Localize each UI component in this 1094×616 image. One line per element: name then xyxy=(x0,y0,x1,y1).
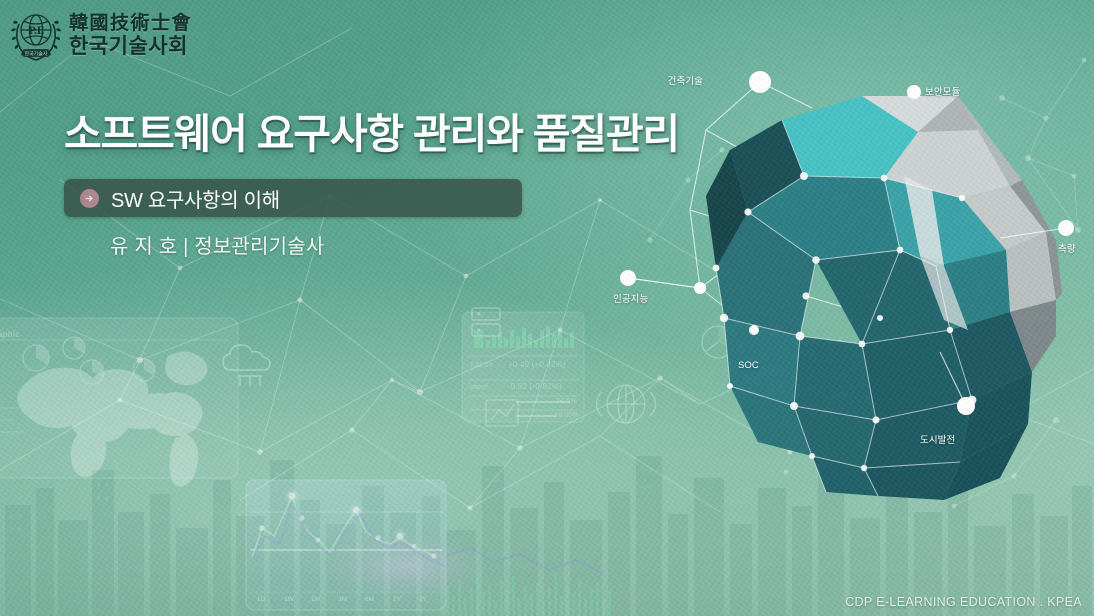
presenter-name: 유 지 호 | 정보관리기술사 xyxy=(110,230,679,259)
subtitle-text: SW 요구사항의 이해 xyxy=(111,184,280,213)
stock-row-b-value: 18.00% xyxy=(554,412,579,419)
range-3m[interactable]: 3M xyxy=(338,596,347,603)
range-1m[interactable]: 1M xyxy=(311,596,320,603)
svg-text:P.E: P.E xyxy=(28,26,44,37)
world-map-panel-caption: aphic xyxy=(0,330,20,339)
network-endpoint-dots xyxy=(620,71,1074,415)
stock-change-down: -0.62 (-0.52%) xyxy=(508,382,562,391)
graph-line-icon xyxy=(486,400,518,426)
cityscape-layer xyxy=(0,420,1094,616)
node-label-artificial-intelligence: 인공지능 xyxy=(613,291,648,305)
range-1w[interactable]: 1W xyxy=(284,596,294,603)
line-chart-panel xyxy=(246,480,446,610)
globe-wifi-icon xyxy=(597,385,656,423)
title-block: 소프트웨어 요구사항 관리와 품질관리 SW 요구사항의 이해 유 지 호 | … xyxy=(64,100,679,259)
node-label-soc: SOC xyxy=(738,360,759,371)
world-map-panel xyxy=(0,318,238,487)
polyhedron-sphere xyxy=(706,96,1062,500)
node-label-surveying: 측량 xyxy=(1058,241,1076,255)
arrow-right-circle-icon xyxy=(80,189,99,208)
secondary-trend-line xyxy=(446,548,604,574)
pie-chart-icon xyxy=(702,326,734,358)
range-2y[interactable]: 2Y xyxy=(419,596,427,603)
range-1y[interactable]: 1Y xyxy=(393,596,401,603)
pe-globe-emblem-icon: P.E 한국기술사 xyxy=(10,8,62,62)
server-stack-icon xyxy=(472,308,500,336)
stock-secondary-value: panel xyxy=(470,384,488,391)
range-1d[interactable]: 1D xyxy=(257,596,265,603)
node-network xyxy=(620,58,1086,509)
subtitle-pill[interactable]: SW 요구사항의 이해 xyxy=(64,179,522,217)
svg-text:한국기술사: 한국기술사 xyxy=(24,51,47,58)
stock-change-up: +0.49 (+0.42%) xyxy=(508,360,566,369)
bar-chart-icon xyxy=(895,432,922,462)
organization-logo: P.E 한국기술사 韓國技術士會 한국기술사회 xyxy=(10,8,192,62)
logo-hangul-text: 한국기술사회 xyxy=(69,36,192,57)
stock-row-a-value: 74.5% xyxy=(556,398,577,405)
page-title: 소프트웨어 요구사항 관리와 품질관리 xyxy=(64,100,679,160)
node-label-security-module: 보안모듈 xyxy=(925,84,960,98)
stock-value: 132.04 xyxy=(470,362,493,369)
range-6m[interactable]: 6M xyxy=(365,596,374,603)
node-label-urban-development: 도시발전 xyxy=(920,432,955,446)
presentation-slide: P.E 한국기술사 韓國技術士會 한국기술사회 소프트웨어 요구사항 관리와 품… xyxy=(0,0,1094,616)
cloud-network-icon xyxy=(223,345,270,386)
logo-hanja-text: 韓國技術士會 xyxy=(69,14,192,33)
footer-credit: CDP E-LEARNING EDUCATION . KPEA xyxy=(845,595,1082,609)
node-label-architecture: 건축기술 xyxy=(668,73,703,87)
